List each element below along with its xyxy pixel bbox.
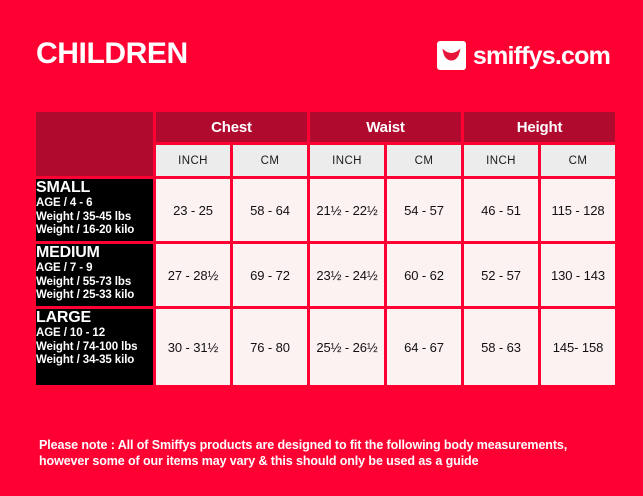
unit-header-waist-cm: CM — [387, 145, 461, 176]
cell-chest-cm: 69 - 72 — [233, 244, 307, 306]
size-weight-kilo: Weight / 16-20 kilo — [36, 224, 153, 238]
column-group-chest: Chest — [156, 112, 307, 142]
unit-header-chest-cm: CM — [233, 145, 307, 176]
size-label-medium: MEDIUM AGE / 7 - 9 Weight / 55-73 lbs We… — [36, 244, 153, 306]
size-label-large: LARGE AGE / 10 - 12 Weight / 74-100 lbs … — [36, 309, 153, 385]
table-row: MEDIUM AGE / 7 - 9 Weight / 55-73 lbs We… — [36, 244, 615, 306]
table-group-header-row: Chest Waist Height — [36, 112, 615, 142]
size-weight-lbs: Weight / 35-45 lbs — [36, 211, 153, 225]
cell-waist-inch: 25½ - 26½ — [310, 309, 384, 385]
cell-height-cm: 130 - 143 — [541, 244, 615, 306]
size-name: MEDIUM — [36, 244, 153, 262]
table-row: SMALL AGE / 4 - 6 Weight / 35-45 lbs Wei… — [36, 179, 615, 241]
size-age: AGE / 10 - 12 — [36, 327, 153, 341]
table-row: LARGE AGE / 10 - 12 Weight / 74-100 lbs … — [36, 309, 615, 385]
cell-chest-cm: 58 - 64 — [233, 179, 307, 241]
cell-height-cm: 145- 158 — [541, 309, 615, 385]
cell-waist-cm: 64 - 67 — [387, 309, 461, 385]
size-label-small: SMALL AGE / 4 - 6 Weight / 35-45 lbs Wei… — [36, 179, 153, 241]
size-name: LARGE — [36, 309, 153, 327]
unit-header-height-cm: CM — [541, 145, 615, 176]
size-chart-page: CHILDREN smiffys.com Chest Waist — [0, 0, 643, 496]
table-corner-block — [36, 112, 153, 176]
brand-logo: smiffys.com — [437, 41, 610, 70]
size-age: AGE / 7 - 9 — [36, 262, 153, 276]
column-group-waist: Waist — [310, 112, 461, 142]
size-weight-lbs: Weight / 55-73 lbs — [36, 276, 153, 290]
cell-height-inch: 46 - 51 — [464, 179, 538, 241]
footnote: Please note : All of Smiffys products ar… — [39, 437, 609, 469]
footnote-line-2: however some of our items may vary & thi… — [39, 453, 609, 469]
cell-height-inch: 58 - 63 — [464, 309, 538, 385]
size-weight-kilo: Weight / 25-33 kilo — [36, 289, 153, 303]
cell-waist-cm: 54 - 57 — [387, 179, 461, 241]
unit-header-waist-inch: INCH — [310, 145, 384, 176]
cell-chest-inch: 27 - 28½ — [156, 244, 230, 306]
unit-header-height-inch: INCH — [464, 145, 538, 176]
unit-header-chest-inch: INCH — [156, 145, 230, 176]
column-group-height: Height — [464, 112, 615, 142]
size-weight-kilo: Weight / 34-35 kilo — [36, 354, 153, 368]
cell-waist-cm: 60 - 62 — [387, 244, 461, 306]
size-name: SMALL — [36, 179, 153, 197]
page-title: CHILDREN — [36, 38, 188, 70]
smiffys-smile-icon — [437, 41, 466, 70]
cell-chest-inch: 23 - 25 — [156, 179, 230, 241]
brand-name: smiffys.com — [473, 43, 610, 69]
size-chart-table: Chest Waist Height INCH CM INCH CM INCH … — [33, 109, 618, 388]
cell-chest-cm: 76 - 80 — [233, 309, 307, 385]
cell-height-cm: 115 - 128 — [541, 179, 615, 241]
page-header: CHILDREN smiffys.com — [0, 0, 643, 100]
cell-chest-inch: 30 - 31½ — [156, 309, 230, 385]
footnote-line-1: Please note : All of Smiffys products ar… — [39, 437, 609, 453]
cell-waist-inch: 21½ - 22½ — [310, 179, 384, 241]
cell-waist-inch: 23½ - 24½ — [310, 244, 384, 306]
size-weight-lbs: Weight / 74-100 lbs — [36, 341, 153, 355]
cell-height-inch: 52 - 57 — [464, 244, 538, 306]
size-age: AGE / 4 - 6 — [36, 197, 153, 211]
